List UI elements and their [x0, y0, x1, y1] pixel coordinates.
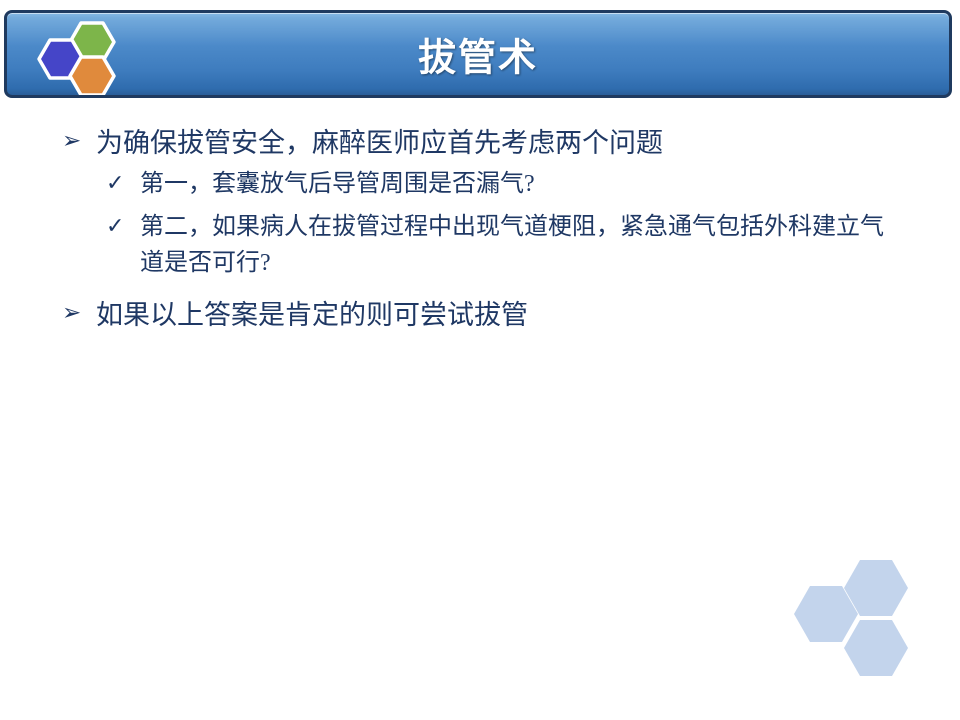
hexagon-logo	[25, 17, 125, 98]
page-title: 拔管术	[7, 27, 949, 82]
slide-canvas: 拔管术 ➢ 为确保拔管安全，麻醉医师应首先考虑两个问题 ✓ 第一，套囊放气后导管…	[0, 0, 960, 720]
check-bullet-icon: ✓	[106, 209, 140, 244]
slide-title-bar: 拔管术	[4, 10, 952, 98]
hexagon-decoration	[788, 558, 928, 688]
bullet-item: ✓ 第二，如果病人在拔管过程中出现气道梗阻，紧急通气包括外科建立气道是否可行?	[106, 209, 922, 282]
deco-hex-bottom-icon	[844, 620, 908, 676]
bullet-text: 第一，套囊放气后导管周围是否漏气?	[140, 166, 894, 202]
bullet-item: ➢ 为确保拔管安全，麻醉医师应首先考虑两个问题	[62, 124, 922, 162]
arrow-bullet-icon: ➢	[62, 296, 96, 331]
bullet-item: ✓ 第一，套囊放气后导管周围是否漏气?	[106, 166, 922, 202]
arrow-bullet-icon: ➢	[62, 124, 96, 159]
slide-body: ➢ 为确保拔管安全，麻醉医师应首先考虑两个问题 ✓ 第一，套囊放气后导管周围是否…	[62, 124, 922, 338]
bullet-text: 如果以上答案是肯定的则可尝试拔管	[96, 296, 922, 334]
hex-orange-icon	[70, 57, 114, 95]
bullet-text: 为确保拔管安全，麻醉医师应首先考虑两个问题	[96, 124, 922, 162]
check-bullet-icon: ✓	[106, 166, 140, 201]
bullet-item: ➢ 如果以上答案是肯定的则可尝试拔管	[62, 296, 922, 334]
bullet-text: 第二，如果病人在拔管过程中出现气道梗阻，紧急通气包括外科建立气道是否可行?	[140, 209, 894, 282]
